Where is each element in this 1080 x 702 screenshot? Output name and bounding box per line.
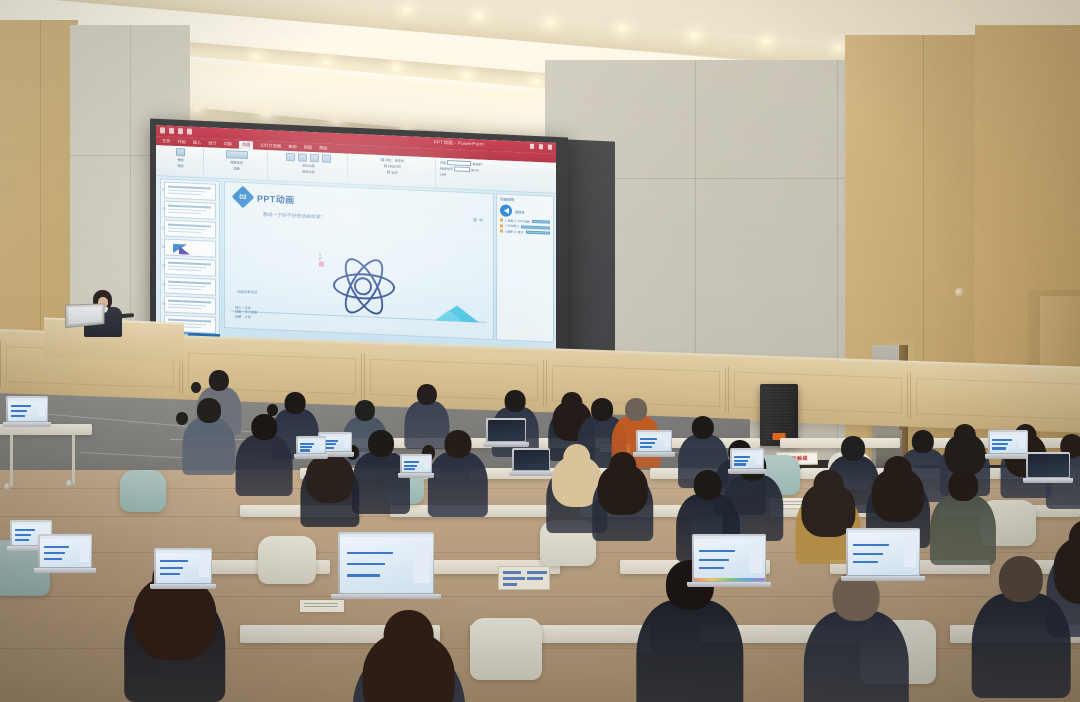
hair-bun <box>176 412 188 426</box>
ribbon-tab-0[interactable]: 文件 <box>162 138 170 144</box>
ribbon-tab-5[interactable]: 动画 <box>239 140 253 149</box>
slide-note: 动画效果预览 <box>237 289 257 295</box>
ribbon-tab-4[interactable]: 切换 <box>224 141 232 147</box>
attendee-laptop[interactable] <box>38 534 92 568</box>
audience-member <box>428 430 488 523</box>
downlight-2-2 <box>260 110 273 119</box>
mountain-graphic-small <box>435 310 463 322</box>
projection-screen[interactable]: PPT动画 - PowerPoint 文件开始插入设计切换动画幻灯片放映审阅视图… <box>156 125 556 365</box>
torso <box>972 593 1071 698</box>
head <box>416 384 436 405</box>
downlight-1-2 <box>390 64 403 73</box>
head <box>999 556 1043 602</box>
head <box>814 470 843 500</box>
ribbon-group-timing-fields[interactable]: 开始 单击时 持续时间 00.50 计时 <box>438 159 538 192</box>
animation-pane-items[interactable]: 1 标题 1: PPT动画2 文本框 23 图形 3: 原子 <box>500 218 550 235</box>
attendee-laptop[interactable] <box>692 534 766 582</box>
slide-thumbnail-12[interactable]: 12 <box>164 238 216 257</box>
laptop-base[interactable] <box>687 582 771 587</box>
head <box>368 430 394 457</box>
head <box>884 456 913 486</box>
slide-thumbnail-15[interactable]: 15 <box>164 295 216 314</box>
start-check[interactable]: 开始：单击时 <box>381 157 404 163</box>
play-from-icon[interactable] <box>500 204 512 217</box>
laptop-base[interactable] <box>150 584 216 589</box>
minimize-icon <box>530 144 534 149</box>
animation-pane-icon[interactable] <box>298 153 307 161</box>
laptop-base[interactable] <box>483 442 529 447</box>
undo-icon <box>169 128 174 134</box>
animation-timeline-bar <box>532 220 550 224</box>
animation-star-icon <box>500 229 503 232</box>
laptop-screen[interactable] <box>694 536 765 581</box>
add-animation-icon[interactable] <box>286 153 295 161</box>
ribbon-tab-7[interactable]: 审阅 <box>288 143 296 149</box>
redo-icon <box>178 128 183 134</box>
ribbon-tab-9[interactable]: 帮助 <box>319 145 327 151</box>
slide-canvas[interactable]: 02 PPT动画 想试一下好不好的动画效果？ 选中 12 动画效果预览 插入：文… <box>224 181 494 340</box>
downlight-0-5 <box>760 37 773 46</box>
torso <box>930 495 996 566</box>
window-controls[interactable] <box>530 144 552 150</box>
attendee-laptop[interactable] <box>988 430 1028 454</box>
save-icon <box>160 127 165 133</box>
laptop-lid <box>1026 452 1070 478</box>
attendee-laptop[interactable] <box>6 396 48 422</box>
slide-thumbnail-10[interactable]: 10 <box>164 200 216 219</box>
laptop-screen[interactable] <box>514 450 549 470</box>
attendee-laptop[interactable] <box>846 528 920 576</box>
chair-2 <box>120 470 166 512</box>
trigger-icon[interactable] <box>310 154 319 162</box>
slide-thumbnail-11[interactable]: 11 <box>164 219 216 238</box>
ribbon-group-animation[interactable]: 效果选项 动画 <box>206 148 268 180</box>
slide-thumbnail-14[interactable]: 14 <box>164 276 216 295</box>
head <box>841 436 865 461</box>
laptop-lid <box>846 528 920 576</box>
laptop-lid <box>988 430 1028 454</box>
close-icon <box>548 145 552 150</box>
booklet-open <box>498 566 550 590</box>
torso <box>236 435 293 496</box>
delay-check[interactable]: 延迟 <box>387 169 397 174</box>
audience-member <box>352 610 465 702</box>
attendee-laptop[interactable] <box>338 532 434 594</box>
laptop-lid <box>692 534 766 582</box>
laptop-base[interactable] <box>985 454 1031 459</box>
thumbnail-number: 14 <box>162 282 165 286</box>
desk-leg <box>10 435 13 487</box>
laptop-screen[interactable] <box>732 450 763 468</box>
downlight-0-4 <box>688 31 701 40</box>
audience-member <box>804 572 908 702</box>
thumbnail-number: 10 <box>162 206 165 210</box>
slide-title: PPT动画 <box>257 192 295 207</box>
thumbnail-number: 12 <box>162 244 165 248</box>
chair-3 <box>258 536 316 584</box>
ribbon-group-advanced-animation[interactable]: 添加动画 高级动画 <box>270 151 348 183</box>
downlight-1-0 <box>250 52 263 61</box>
maximize-icon <box>539 144 543 149</box>
laptop-screen[interactable] <box>488 420 525 441</box>
head <box>563 444 591 473</box>
downlight-0-2 <box>544 18 557 27</box>
slide-thumbnail-13[interactable]: 13 <box>164 257 216 276</box>
ribbon-group-preview[interactable]: 预览 预览 <box>158 146 204 177</box>
laptop-screen[interactable] <box>402 456 431 472</box>
ribbon-tab-3[interactable]: 设计 <box>208 140 216 146</box>
laptop-lid <box>512 448 550 471</box>
laptop-lid <box>296 436 326 454</box>
desk-caster <box>4 483 11 490</box>
laptop-base[interactable] <box>1023 478 1073 483</box>
thumbnail-number: 13 <box>162 263 165 267</box>
macos-dock[interactable] <box>694 578 765 581</box>
laptop-screen[interactable] <box>156 550 211 583</box>
ppt-window-title: PPT动画 - PowerPoint <box>434 139 484 147</box>
laptop-lid <box>338 532 434 594</box>
downlight-1-1 <box>320 58 333 67</box>
thumbnail-number: 9 <box>162 187 164 191</box>
animation-star-icon <box>500 218 503 221</box>
head <box>954 424 976 447</box>
audience-member <box>972 556 1071 702</box>
laptop-screen[interactable] <box>298 438 325 453</box>
animation-pane[interactable]: 动画窗格 播放自 1 标题 1: PPT动画2 文本框 23 图形 3: 原子 <box>496 193 554 343</box>
torso <box>428 452 488 516</box>
downlight-2-1 <box>190 104 203 113</box>
attendee-laptop[interactable] <box>730 448 764 469</box>
slide-thumbnail-9[interactable]: 9 <box>164 181 216 200</box>
animation-timeline-bar <box>521 225 550 229</box>
desk-leg <box>72 435 75 485</box>
torso <box>804 611 908 702</box>
attendee-laptop[interactable] <box>486 418 526 442</box>
ribbon-tab-1[interactable]: 开始 <box>177 139 185 145</box>
attendee-laptop[interactable] <box>154 548 212 584</box>
laptop-lid <box>730 448 764 469</box>
laptop-base[interactable] <box>331 594 440 599</box>
animation-timeline-bar <box>526 231 550 235</box>
desk-caster <box>66 480 73 487</box>
laptop-screen[interactable] <box>990 432 1027 453</box>
head <box>948 470 978 501</box>
laptop-base[interactable] <box>633 452 674 457</box>
slideshow-icon <box>187 128 192 134</box>
wall-mounted-speaker <box>760 384 798 446</box>
head <box>505 390 526 412</box>
ribbon-tab-8[interactable]: 视图 <box>304 144 312 150</box>
slide-caption: 插入：文本 动画：淡入效果 设置：计时 <box>235 305 257 320</box>
duration-check[interactable]: 持续时间 <box>384 163 401 169</box>
head <box>609 452 637 481</box>
downlight-2-3 <box>330 117 343 126</box>
audience-member <box>182 398 235 480</box>
quick-access-toolbar[interactable] <box>160 127 192 134</box>
laptop-screen[interactable] <box>638 432 671 451</box>
laptop-lid <box>38 534 92 568</box>
wall-knob <box>955 288 964 297</box>
downlight-1-4 <box>530 77 543 86</box>
head <box>354 400 374 421</box>
ribbon-tab-2[interactable]: 插入 <box>193 139 201 145</box>
animation-order-tag[interactable]: 12 <box>319 252 324 266</box>
attendee-laptop[interactable] <box>636 430 672 452</box>
thumbnail-number: 15 <box>162 301 165 305</box>
lecture-hall-photo: PPT动画 - PowerPoint 文件开始插入设计切换动画幻灯片放映审阅视图… <box>0 0 1080 702</box>
thumbnail-number: 11 <box>162 225 165 229</box>
head <box>694 470 723 500</box>
head <box>625 398 647 421</box>
laptop-base[interactable] <box>3 422 51 427</box>
preview-icon[interactable] <box>176 148 185 156</box>
animation-star-icon <box>500 224 503 227</box>
laptop-base[interactable] <box>398 473 434 478</box>
laptop-lid <box>6 396 48 422</box>
podium-laptop[interactable] <box>65 303 104 328</box>
atom-orbital-icon[interactable]: 12 <box>333 257 395 316</box>
animation-painter-icon[interactable] <box>322 154 331 162</box>
laptop-base[interactable] <box>841 576 925 581</box>
head <box>383 610 434 663</box>
laptop-lid <box>400 454 432 473</box>
laptop-base[interactable] <box>509 471 552 476</box>
attendee-laptop[interactable] <box>1026 452 1070 478</box>
audience-member <box>592 452 653 546</box>
slide-thumbnail-panel[interactable]: 91011121314151617 <box>160 178 220 340</box>
laptop-screen[interactable] <box>1028 454 1069 477</box>
attendee-laptop[interactable] <box>400 454 432 473</box>
slide-subtitle: 想试一下好不好的动画效果？ <box>263 212 325 221</box>
laptop-lid <box>486 418 526 442</box>
audience-member <box>236 414 293 501</box>
downlight-1-3 <box>460 71 473 80</box>
laptop-screen[interactable] <box>40 536 91 567</box>
head <box>692 416 714 439</box>
animation-gallery-icon[interactable] <box>226 150 248 159</box>
ribbon-tab-6[interactable]: 幻灯片放映 <box>260 142 281 149</box>
paper-3 <box>300 600 344 612</box>
laptop-screen[interactable] <box>8 398 47 421</box>
laptop-lid <box>636 430 672 452</box>
head <box>445 430 472 458</box>
head <box>912 430 934 453</box>
hair-bun <box>191 382 201 394</box>
laptop-lid <box>154 548 212 584</box>
head <box>591 398 613 421</box>
laptop-screen[interactable] <box>340 534 433 593</box>
torso <box>182 418 235 475</box>
animation-item-2[interactable]: 3 图形 3: 原子 <box>500 229 550 235</box>
head <box>208 370 228 391</box>
torso <box>636 600 743 702</box>
head <box>197 398 221 423</box>
attendee-laptop[interactable] <box>512 448 550 471</box>
slide-number-badge: 02 <box>232 186 255 209</box>
selection-handles-hint: 选中 <box>473 217 485 224</box>
chair-7 <box>470 618 542 680</box>
downlight-0-0 <box>400 5 413 14</box>
laptop-base[interactable] <box>34 568 96 573</box>
attendee-laptop[interactable] <box>296 436 326 454</box>
head <box>252 414 277 440</box>
laptop-base[interactable] <box>294 454 328 459</box>
ribbon-group-timing[interactable]: 开始：单击时 持续时间 延迟 <box>350 155 436 188</box>
head <box>285 392 306 414</box>
laptop-screen[interactable] <box>848 530 919 575</box>
